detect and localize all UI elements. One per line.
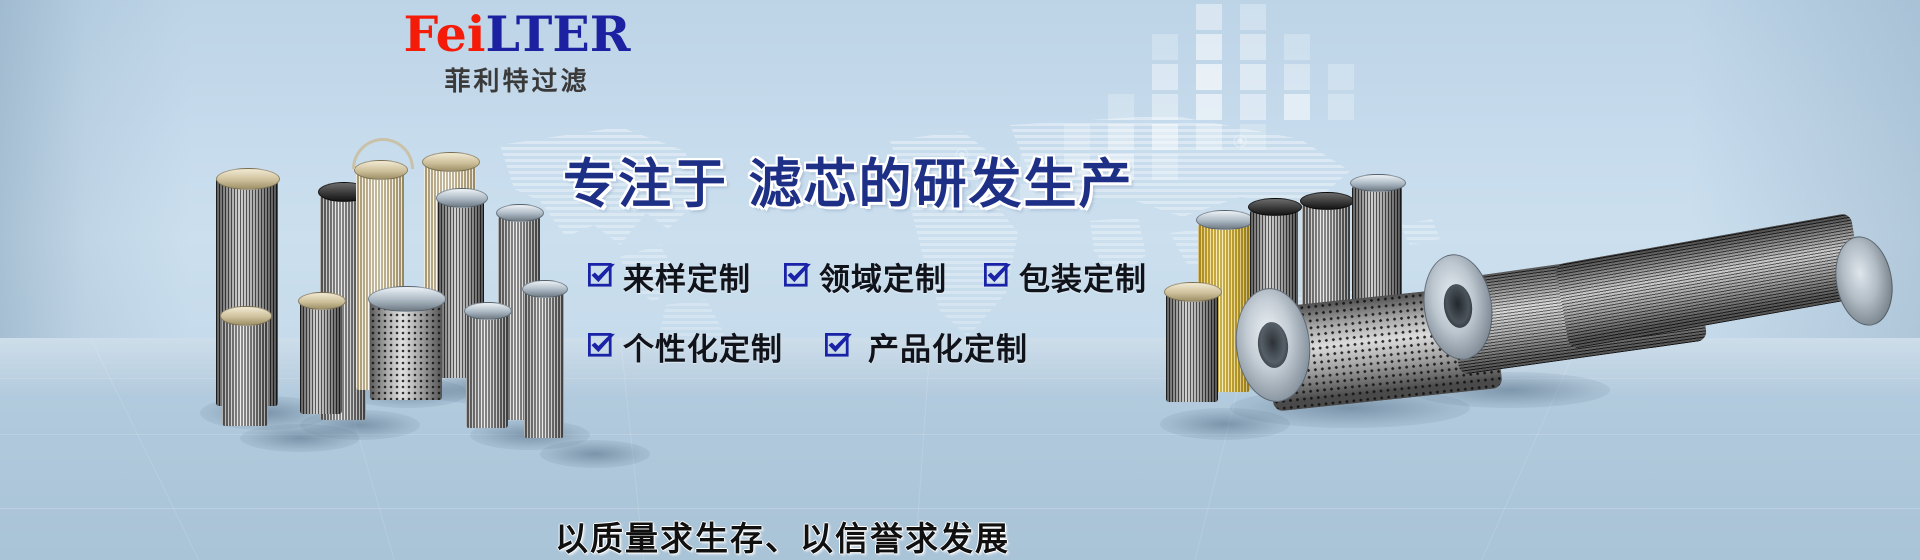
checkbox-checked-icon — [588, 333, 614, 359]
brand-logo[interactable]: FeiLTER 菲利特过滤 — [392, 10, 642, 95]
brand-wordmark-red: Fei — [404, 5, 486, 63]
promo-banner: FeiLTER 菲利特过滤 专注于 滤芯的研发生产 来样定制 — [0, 0, 1920, 560]
feature-label: 包装定制 — [1019, 254, 1147, 299]
feature-label: 个性化定制 — [623, 324, 783, 369]
feature-item: 领域定制 — [784, 254, 984, 299]
feature-item: 产品化定制 — [825, 324, 1028, 369]
background-left-shadow — [0, 0, 190, 340]
feature-label: 领域定制 — [819, 254, 947, 299]
feature-row: 个性化定制 产品化定制 — [588, 316, 1228, 376]
checkbox-checked-icon — [984, 263, 1010, 289]
brand-wordmark-blue: LTER — [485, 5, 630, 63]
checkbox-checked-icon — [784, 263, 810, 289]
filter-cartridge — [524, 290, 564, 438]
filter-cartridge — [222, 318, 268, 426]
filter-cartridge — [466, 312, 508, 428]
tagline: 以质量求生存、以信誉求发展 — [555, 512, 1010, 560]
filter-cartridge — [300, 302, 342, 414]
feature-label: 来样定制 — [623, 254, 751, 299]
brand-wordmark: FeiLTER — [392, 10, 642, 59]
checkbox-checked-icon — [588, 263, 614, 289]
feature-item: 来样定制 — [588, 254, 784, 299]
feature-list: 来样定制 领域定制 包装定制 — [588, 246, 1228, 376]
feature-item: 个性化定制 — [588, 324, 825, 369]
filter-cartridge — [370, 300, 442, 400]
headline: 专注于 滤芯的研发生产 — [563, 142, 1133, 218]
feature-item: 包装定制 — [984, 254, 1147, 299]
checkbox-checked-icon — [825, 333, 851, 359]
feature-row: 来样定制 领域定制 包装定制 — [588, 246, 1228, 306]
feature-label: 产品化定制 — [868, 324, 1028, 369]
brand-name-chinese: 菲利特过滤 — [392, 69, 642, 95]
